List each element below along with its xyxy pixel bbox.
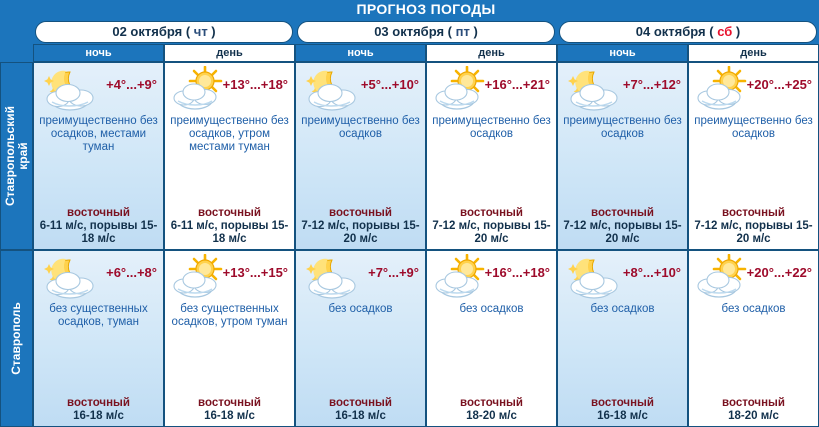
temperature-range: +16°...+18° [485,265,550,280]
day-of-week-label: чт [194,24,208,39]
wind-direction: восточный [165,397,294,410]
wind-speed: 6-11 м/с, порывы 15-18 м/с [165,220,294,246]
wind-info: восточный6-11 м/с, порывы 15-18 м/с [34,207,163,246]
weather-phenomena: преимущественно без осадков [558,113,687,141]
date-bar: 02 октября ( чт )03 октября ( пт )04 окт… [33,21,819,43]
column-header-night-3: ночь [557,44,688,62]
day-of-week-label: сб [717,24,732,39]
date-label: 03 октября [374,24,444,39]
wind-info: восточный16-18 м/с [34,397,163,423]
weather-phenomena: преимущественно без осадков, местами тум… [34,113,163,154]
date-label: 02 октября [112,24,182,39]
date-pill-2[interactable]: 03 октября ( пт ) [297,21,555,43]
region-sidebar-2: Ставрополь [0,250,33,427]
wind-info: восточный16-18 м/с [558,397,687,423]
wind-speed: 6-11 м/с, порывы 15-18 м/с [34,220,163,246]
temperature-range: +16°...+21° [485,77,550,92]
forecast-cell[interactable]: +5°...+10°преимущественно без осадковвос… [295,62,426,250]
wind-info: восточный7-12 м/с, порывы 15-20 м/с [689,207,818,246]
wind-direction: восточный [427,207,556,220]
column-header-day-3: день [688,44,819,62]
weather-forecast-widget: ПРОГНОЗ ПОГОДЫ 02 октября ( чт )03 октяб… [0,0,819,427]
moon-cloud-icon [40,254,106,300]
wind-info: восточный18-20 м/с [689,397,818,423]
column-header-night-2: ночь [295,44,426,62]
weather-phenomena: без существенных осадков, утром туман [165,301,294,329]
moon-cloud-icon [302,66,368,112]
forecast-cell[interactable]: +20°...+22°без осадковвосточный18-20 м/с [688,250,819,427]
temperature-range: +8°...+10° [623,265,681,280]
column-header-day-1: день [164,44,295,62]
forecast-cell[interactable]: +6°...+8°без существенных осадков, туман… [33,250,164,427]
moon-cloud-icon [564,66,630,112]
temperature-range: +7°...+12° [623,77,681,92]
temperature-range: +20°...+25° [747,77,812,92]
wind-direction: восточный [689,207,818,220]
wind-speed: 16-18 м/с [34,410,163,423]
moon-cloud-icon [40,66,106,112]
wind-direction: восточный [296,397,425,410]
moon-cloud-icon [302,254,368,300]
wind-info: восточный16-18 м/с [165,397,294,423]
date-pill-3[interactable]: 04 октября ( сб ) [559,21,817,43]
wind-info: восточный16-18 м/с [296,397,425,423]
wind-direction: восточный [165,207,294,220]
wind-speed: 16-18 м/с [558,410,687,423]
wind-direction: восточный [427,397,556,410]
wind-direction: восточный [558,397,687,410]
wind-direction: восточный [34,397,163,410]
column-header-night-1: ночь [33,44,164,62]
wind-speed: 7-12 м/с, порывы 15-20 м/с [427,220,556,246]
wind-info: восточный7-12 м/с, порывы 15-20 м/с [296,207,425,246]
weather-phenomena: преимущественно без осадков, утром места… [165,113,294,154]
wind-speed: 18-20 м/с [689,410,818,423]
region-label: Ставропольский край [4,106,30,206]
forecast-cell[interactable]: +20°...+25°преимущественно без осадковво… [688,62,819,250]
wind-speed: 18-20 м/с [427,410,556,423]
region-sidebar-1: Ставропольский край [0,62,33,250]
wind-direction: восточный [689,397,818,410]
weather-phenomena: преимущественно без осадков [427,113,556,141]
temperature-range: +13°...+15° [223,265,288,280]
moon-cloud-icon [564,254,630,300]
temperature-range: +5°...+10° [361,77,419,92]
wind-info: восточный18-20 м/с [427,397,556,423]
forecast-cell[interactable]: +7°...+9°без осадковвосточный16-18 м/с [295,250,426,427]
wind-info: восточный6-11 м/с, порывы 15-18 м/с [165,207,294,246]
forecast-cell[interactable]: +16°...+18°без осадковвосточный18-20 м/с [426,250,557,427]
temperature-range: +20°...+22° [747,265,812,280]
weather-phenomena: без осадков [427,301,556,316]
temperature-range: +6°...+8° [106,265,157,280]
forecast-cell[interactable]: +16°...+21°преимущественно без осадковво… [426,62,557,250]
column-header-day-2: день [426,44,557,62]
forecast-cell[interactable]: +13°...+15°без существенных осадков, утр… [164,250,295,427]
wind-direction: восточный [34,207,163,220]
wind-speed: 16-18 м/с [296,410,425,423]
temperature-range: +7°...+9° [368,265,419,280]
weather-phenomena: преимущественно без осадков [689,113,818,141]
temperature-range: +13°...+18° [223,77,288,92]
temperature-range: +4°...+9° [106,77,157,92]
weather-phenomena: без существенных осадков, туман [34,301,163,329]
region-label: Ставрополь [10,302,23,375]
wind-info: восточный7-12 м/с, порывы 15-20 м/с [558,207,687,246]
forecast-cell[interactable]: +7°...+12°преимущественно без осадковвос… [557,62,688,250]
wind-direction: восточный [296,207,425,220]
weather-phenomena: без осадков [689,301,818,316]
weather-phenomena: без осадков [296,301,425,316]
weather-phenomena: без осадков [558,301,687,316]
day-of-week-label: пт [456,24,470,39]
title-bar: ПРОГНОЗ ПОГОДЫ [0,0,819,20]
wind-speed: 7-12 м/с, порывы 15-20 м/с [296,220,425,246]
page-title: ПРОГНОЗ ПОГОДЫ [33,1,819,18]
wind-info: восточный7-12 м/с, порывы 15-20 м/с [427,207,556,246]
wind-direction: восточный [558,207,687,220]
weather-phenomena: преимущественно без осадков [296,113,425,141]
wind-speed: 7-12 м/с, порывы 15-20 м/с [558,220,687,246]
wind-speed: 16-18 м/с [165,410,294,423]
forecast-cell[interactable]: +13°...+18°преимущественно без осадков, … [164,62,295,250]
forecast-cell[interactable]: +4°...+9°преимущественно без осадков, ме… [33,62,164,250]
wind-speed: 7-12 м/с, порывы 15-20 м/с [689,220,818,246]
date-pill-1[interactable]: 02 октября ( чт ) [35,21,293,43]
date-label: 04 октября [636,24,706,39]
forecast-cell[interactable]: +8°...+10°без осадковвосточный16-18 м/с [557,250,688,427]
